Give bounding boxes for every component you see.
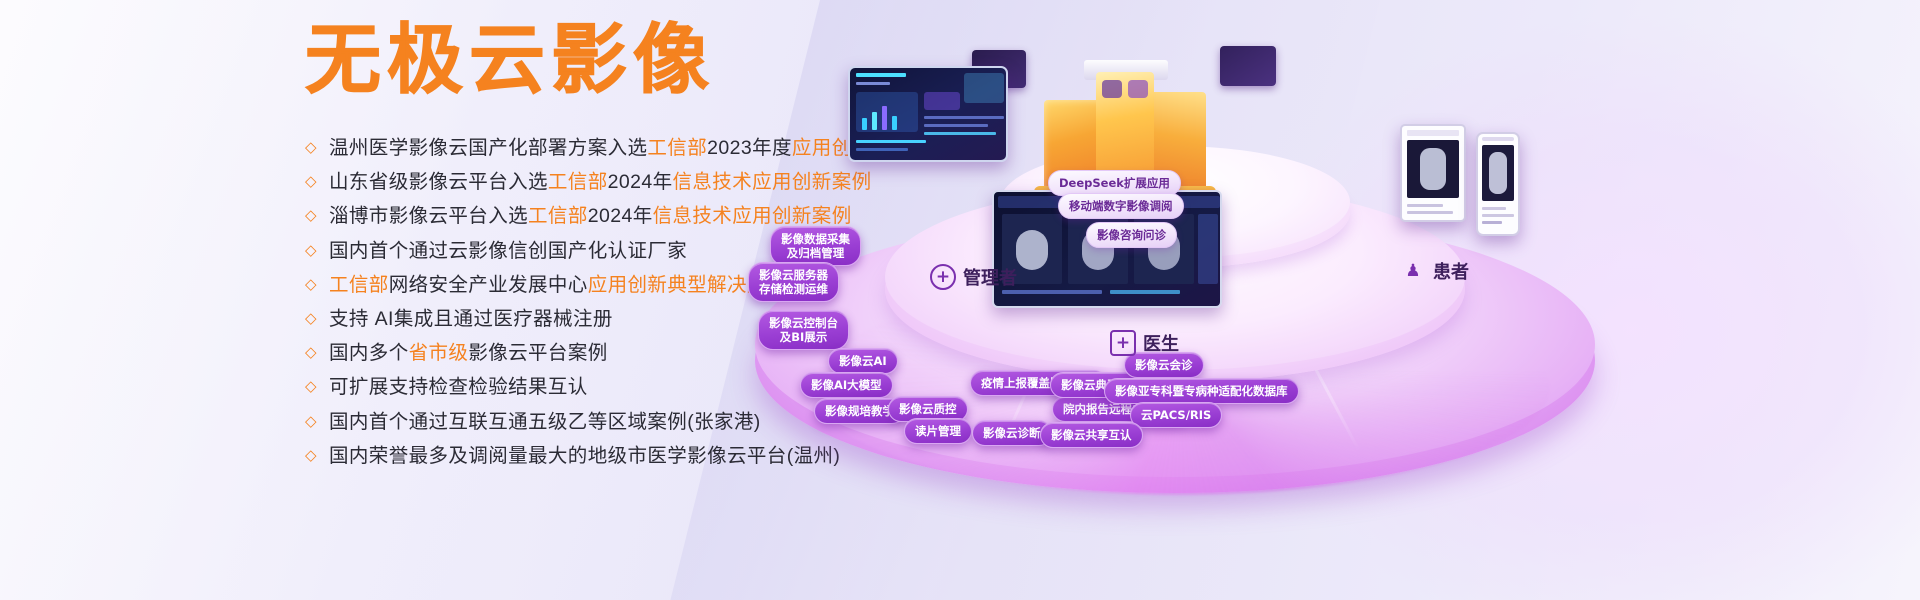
pill-line1: 影像云服务器 xyxy=(759,268,828,282)
pill-line2: 存储检测运维 xyxy=(759,282,828,296)
bullet-text-segment: 淄博市影像云平台入选 xyxy=(329,205,528,227)
bullet-text: 可扩展支持检查检验结果互认 xyxy=(329,370,588,404)
screen-detail xyxy=(1482,137,1514,141)
pill-line1: 云PACS/RIS xyxy=(1141,408,1211,422)
bullet-text-segment: 工信部 xyxy=(528,205,588,227)
screen-detail xyxy=(1198,214,1218,284)
pill-line1: 影像云控制台 xyxy=(769,316,838,330)
bullet-text-segment: 国内首个通过互联互通五级乙等区域案例(张家港) xyxy=(329,411,761,433)
bullet-text-segment: 温州医学影像云国产化部署方案入选 xyxy=(329,137,647,159)
bullet-text-segment: 省市级 xyxy=(409,342,469,364)
pill-cloud-sharing[interactable]: 影像云共享互认 xyxy=(1040,422,1143,448)
screen-detail xyxy=(856,82,890,85)
screen-detail xyxy=(892,116,897,130)
bullet-text-segment: 工信部 xyxy=(548,171,608,193)
diamond-bullet-icon: ◇ xyxy=(305,234,329,268)
platform-architecture-diagram: 无极云 影像平台 + 管理者 ♟ 患者 + 医生 影像数据采集 及归档管理 影像… xyxy=(700,0,1920,600)
person-icon: ♟ xyxy=(1400,258,1426,284)
diamond-bullet-icon: ◇ xyxy=(305,199,329,233)
pill-line1: 影像AI大模型 xyxy=(811,378,882,392)
pill-cloud-pacs-ris[interactable]: 云PACS/RIS xyxy=(1130,402,1222,428)
pill-line1: 移动端数字影像调阅 xyxy=(1069,199,1173,213)
bullet-text: 国内多个省市级影像云平台案例 xyxy=(329,336,608,370)
screen-detail xyxy=(1482,214,1514,217)
pill-line2: 及归档管理 xyxy=(781,246,850,260)
screen-detail xyxy=(862,118,867,130)
diamond-bullet-icon: ◇ xyxy=(305,268,329,302)
role-patient[interactable]: ♟ 患者 xyxy=(1400,258,1469,284)
pill-line1: 影像云质控 xyxy=(899,402,957,416)
pill-line1: 影像数据采集 xyxy=(781,232,850,246)
tower-side-screen-right xyxy=(1220,46,1276,86)
plus-circle-icon: + xyxy=(930,264,956,290)
screen-detail xyxy=(964,73,1004,103)
pill-line1: 影像云AI xyxy=(839,354,887,368)
pill-image-data-capture[interactable]: 影像数据采集 及归档管理 xyxy=(770,226,861,266)
bullet-text: 国内首个通过互联互通五级乙等区域案例(张家港) xyxy=(329,405,761,439)
bullet-text-segment: 国内多个 xyxy=(329,342,409,364)
bullet-text-segment: 工信部 xyxy=(647,137,707,159)
screen-detail xyxy=(1407,130,1459,136)
pill-line1: 读片管理 xyxy=(915,424,961,438)
role-patient-label: 患者 xyxy=(1433,258,1469,284)
diamond-bullet-icon: ◇ xyxy=(305,370,329,404)
screen-detail xyxy=(924,92,960,110)
pill-subspecialty-database[interactable]: 影像亚专科暨专病种适配化数据库 xyxy=(1104,378,1299,404)
screen-detail xyxy=(882,106,887,130)
diamond-bullet-icon: ◇ xyxy=(305,302,329,336)
bullet-text-segment: 网络安全产业发展中心 xyxy=(389,274,588,296)
diamond-bullet-icon: ◇ xyxy=(305,439,329,473)
screen-detail xyxy=(1420,148,1446,190)
bullet-text-segment: 可扩展支持检查检验结果互认 xyxy=(329,376,588,398)
screen-detail xyxy=(924,116,1004,119)
pill-image-consultation[interactable]: 影像咨询问诊 xyxy=(1086,222,1177,248)
pill-ai-large-model[interactable]: 影像AI大模型 xyxy=(800,372,893,398)
screen-detail xyxy=(924,124,988,127)
pill-line1: 影像云共享互认 xyxy=(1051,428,1132,442)
bullet-text-segment: 国内首个通过云影像信创国产化认证厂家 xyxy=(329,240,687,262)
bullet-text: 支持 AI集成且通过医疗器械注册 xyxy=(329,302,613,336)
bullet-text-segment: 2024年 xyxy=(588,205,653,227)
pill-cloud-ai[interactable]: 影像云AI xyxy=(828,348,898,374)
role-doctor[interactable]: + 医生 xyxy=(1110,330,1179,356)
diamond-bullet-icon: ◇ xyxy=(305,405,329,439)
bullet-text-segment: 工信部 xyxy=(329,274,389,296)
pill-line1: DeepSeek扩展应用 xyxy=(1059,176,1170,190)
diamond-bullet-icon: ◇ xyxy=(305,131,329,165)
screen-detail xyxy=(1110,290,1180,294)
pill-line1: 影像咨询问诊 xyxy=(1097,228,1166,242)
diamond-bullet-icon: ◇ xyxy=(305,336,329,370)
screen-detail xyxy=(872,112,877,130)
tower-window-left xyxy=(1102,80,1122,98)
screen-detail xyxy=(1407,211,1453,214)
bullet-text: 国内首个通过云影像信创国产化认证厂家 xyxy=(329,234,687,268)
pill-line1: 影像云诊断 xyxy=(983,426,1041,440)
pill-console-bi[interactable]: 影像云控制台 及BI展示 xyxy=(758,310,849,350)
doctor-square-icon: + xyxy=(1110,330,1136,356)
screen-detail xyxy=(856,148,908,151)
tablet-xray-mockup xyxy=(1400,124,1466,222)
screen-detail xyxy=(1016,230,1048,270)
role-admin-label: 管理者 xyxy=(963,264,1017,290)
bullet-text-segment: 2024年 xyxy=(608,171,673,193)
screen-detail xyxy=(924,132,996,135)
dashboard-screen-mockup xyxy=(848,66,1008,162)
pill-reading-management[interactable]: 读片管理 xyxy=(904,418,972,444)
pill-line2: 及BI展示 xyxy=(769,330,838,344)
bullet-text-segment: 影像云平台案例 xyxy=(468,342,607,364)
bullet-text-segment: 山东省级影像云平台入选 xyxy=(329,171,548,193)
phone-xray-mockup xyxy=(1476,132,1520,236)
pill-line1: 影像规培教学 xyxy=(825,404,894,418)
screen-detail xyxy=(1482,207,1506,210)
screen-detail xyxy=(856,140,926,143)
screen-detail xyxy=(1002,290,1102,294)
pill-mobile-image-access[interactable]: 移动端数字影像调阅 xyxy=(1058,193,1184,219)
pill-line1: 影像云会诊 xyxy=(1135,358,1193,372)
screen-detail xyxy=(1489,152,1507,194)
pill-cloud-server-ops[interactable]: 影像云服务器 存储检测运维 xyxy=(748,262,839,302)
role-admin[interactable]: + 管理者 xyxy=(930,264,1017,290)
bullet-text-segment: 支持 AI集成且通过医疗器械注册 xyxy=(329,308,613,330)
pill-line1: 影像亚专科暨专病种适配化数据库 xyxy=(1115,384,1288,398)
page-title: 无极云影像 xyxy=(305,22,715,98)
role-doctor-label: 医生 xyxy=(1143,330,1179,356)
screen-detail xyxy=(1407,204,1443,207)
diamond-bullet-icon: ◇ xyxy=(305,165,329,199)
screen-detail xyxy=(1482,221,1502,224)
tower-window-right xyxy=(1128,80,1148,98)
screen-detail xyxy=(856,73,906,77)
